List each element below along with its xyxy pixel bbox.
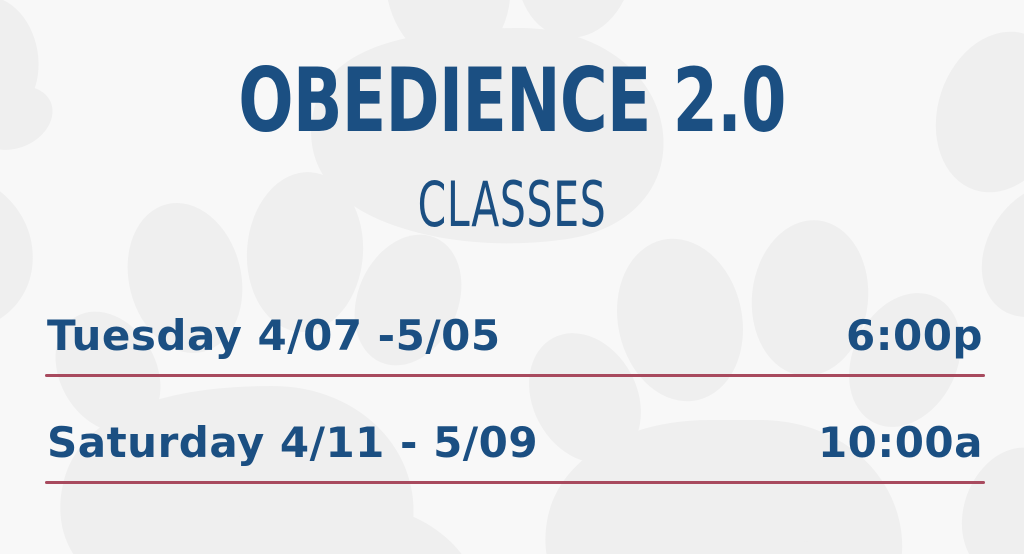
schedule-row: Tuesday 4/07 -5/05 6:00p — [45, 308, 985, 415]
obedience-class-poster: OBEDIENCE 2.0 CLASSES Tuesday 4/07 -5/05… — [0, 0, 1024, 554]
paw-print-icon — [0, 0, 63, 336]
paw-print-icon — [916, 15, 1024, 340]
row-divider — [45, 481, 985, 484]
schedule-row-time: 10:00a — [818, 415, 983, 471]
page-subtitle: CLASSES — [174, 172, 850, 238]
page-title: OBEDIENCE 2.0 — [133, 54, 891, 148]
schedule-row: Saturday 4/11 - 5/09 10:00a — [45, 415, 985, 522]
row-divider — [45, 374, 985, 377]
schedule-row-day: Tuesday 4/07 -5/05 — [47, 308, 501, 364]
schedule-row-time: 6:00p — [846, 308, 983, 364]
schedule-row-day: Saturday 4/11 - 5/09 — [47, 415, 538, 471]
class-schedule-list: Tuesday 4/07 -5/05 6:00p Saturday 4/11 -… — [45, 308, 985, 522]
